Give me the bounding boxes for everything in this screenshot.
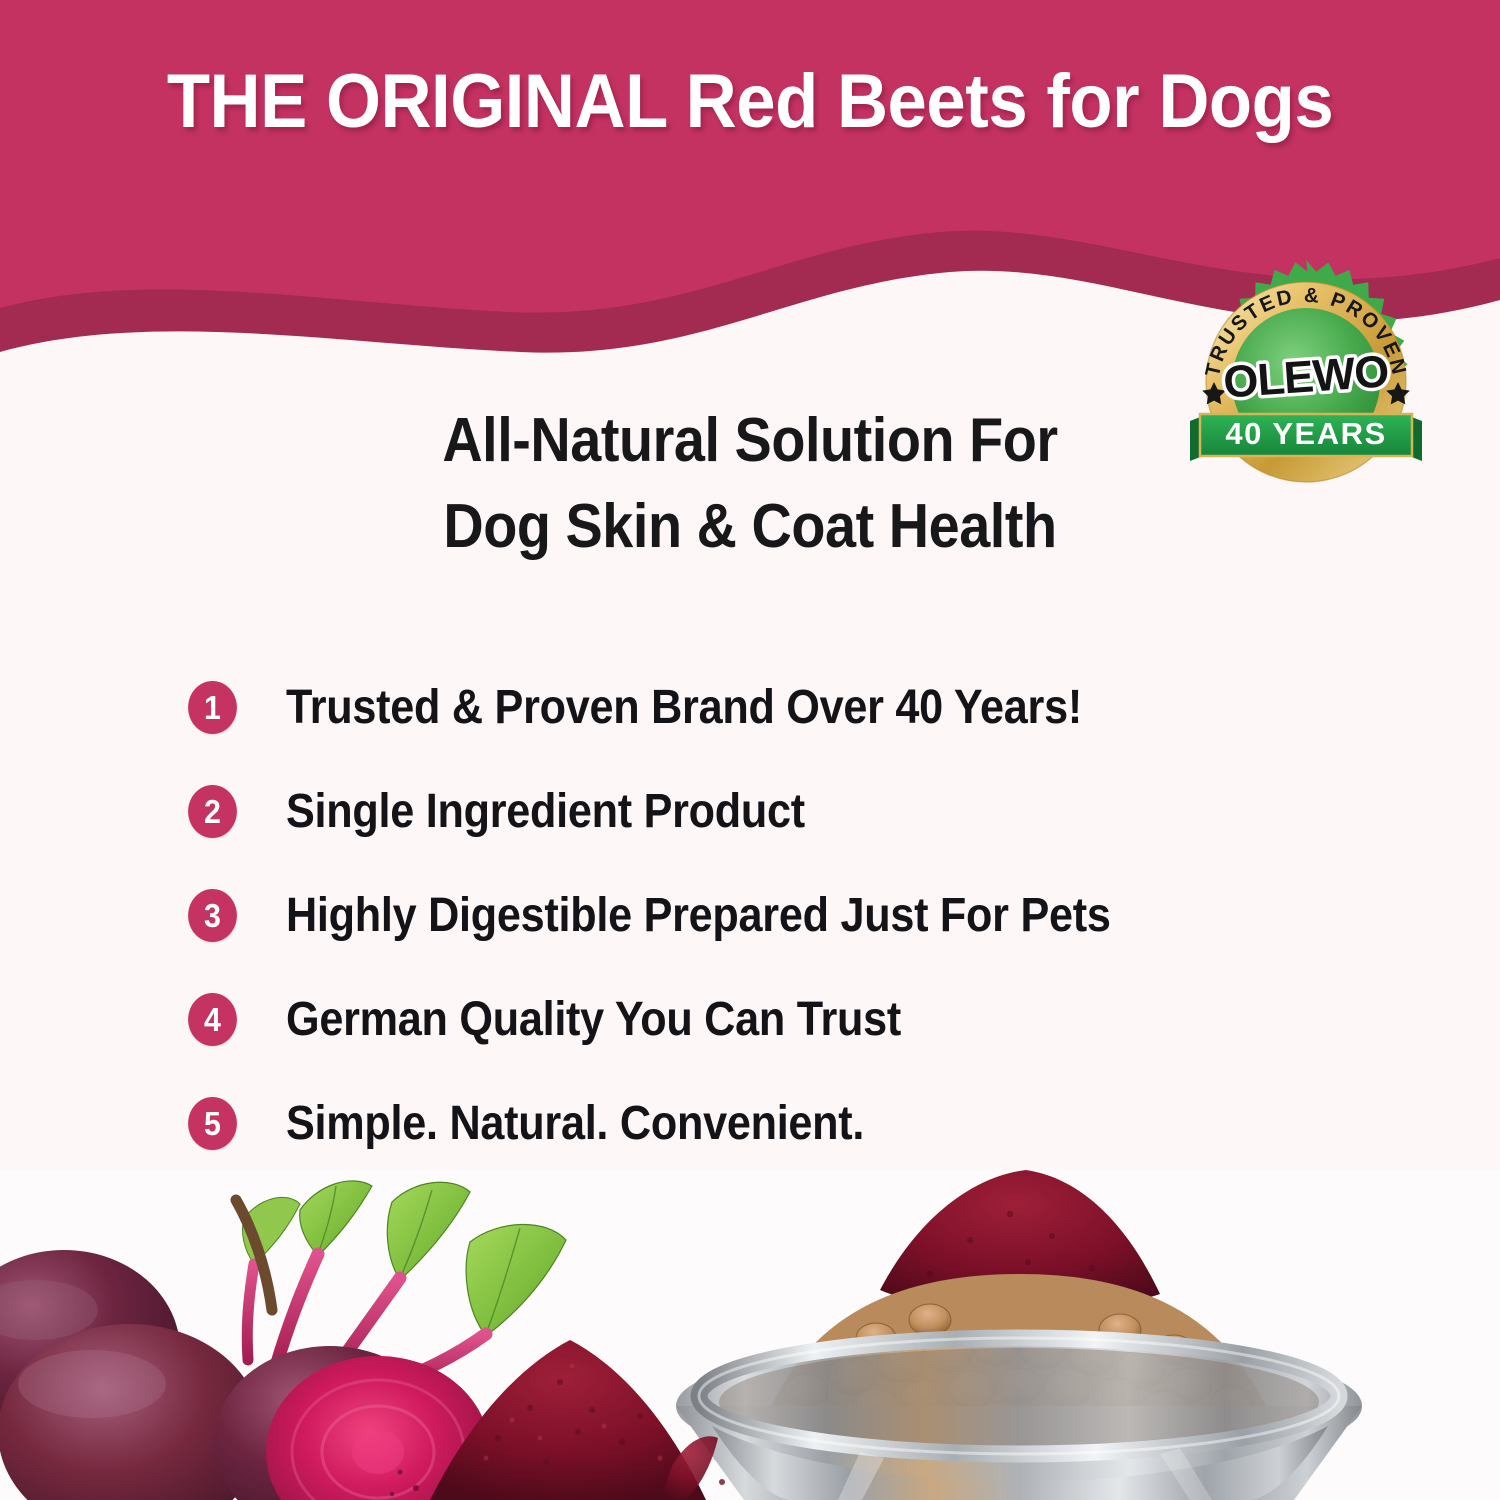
benefit-number-badge: 5 bbox=[188, 1097, 237, 1150]
headline-line-2: Dog Skin & Coat Health bbox=[75, 484, 1425, 570]
benefit-number-badge: 1 bbox=[188, 681, 237, 734]
page-title: THE ORIGINAL Red Beets for Dogs bbox=[53, 60, 1448, 144]
benefits-list: 1 Trusted & Proven Brand Over 40 Years! … bbox=[186, 655, 1386, 1175]
benefit-text: Single Ingredient Product bbox=[286, 784, 805, 839]
product-photo-strip bbox=[0, 1170, 1500, 1500]
benefit-number-badge: 2 bbox=[188, 785, 237, 838]
benefit-number-badge: 4 bbox=[188, 993, 237, 1046]
benefit-text: German Quality You Can Trust bbox=[286, 992, 901, 1047]
list-item: 1 Trusted & Proven Brand Over 40 Years! bbox=[186, 655, 1386, 759]
list-item: 5 Simple. Natural. Convenient. bbox=[186, 1071, 1386, 1175]
benefit-text: Highly Digestible Prepared Just For Pets bbox=[286, 888, 1111, 943]
list-item: 3 Highly Digestible Prepared Just For Pe… bbox=[186, 863, 1386, 967]
benefit-text: Simple. Natural. Convenient. bbox=[286, 1096, 864, 1151]
headline-line-1: All-Natural Solution For bbox=[442, 406, 1057, 475]
headline: All-Natural Solution For Dog Skin & Coat… bbox=[75, 398, 1425, 569]
list-item: 4 German Quality You Can Trust bbox=[186, 967, 1386, 1071]
list-item: 2 Single Ingredient Product bbox=[186, 759, 1386, 863]
infographic-page: THE ORIGINAL Red Beets for Dogs bbox=[0, 0, 1500, 1500]
benefit-number-badge: 3 bbox=[188, 889, 237, 942]
benefit-text: Trusted & Proven Brand Over 40 Years! bbox=[286, 680, 1082, 735]
